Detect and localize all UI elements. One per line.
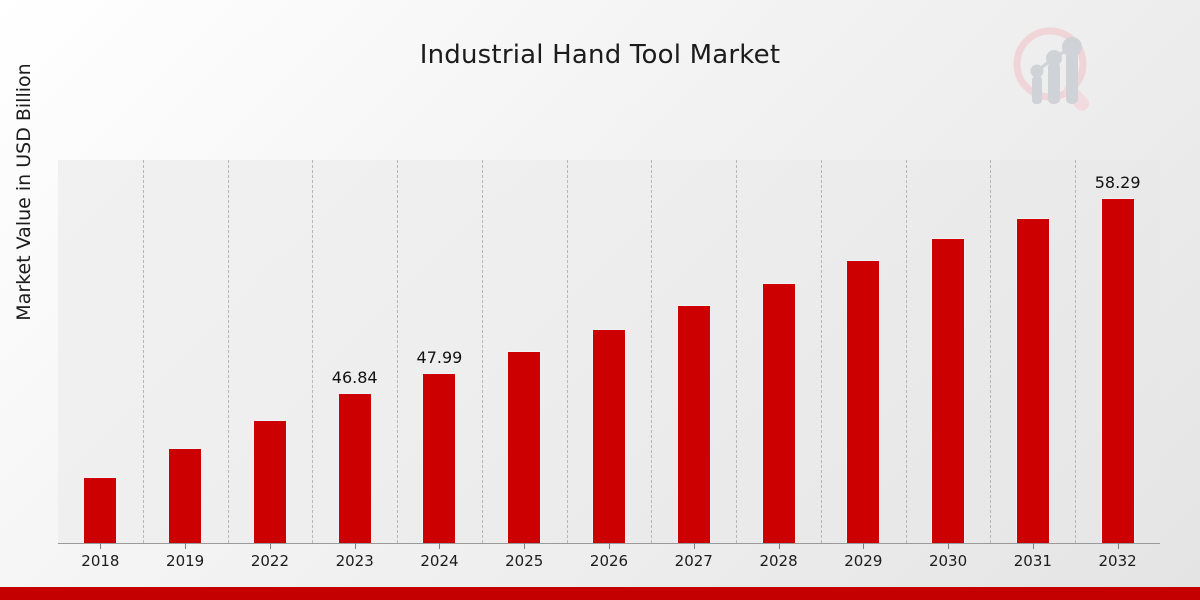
x-tick-2024 bbox=[439, 543, 440, 549]
x-tick-label-2030: 2030 bbox=[903, 552, 993, 570]
x-tick-2023 bbox=[355, 543, 356, 549]
bar-value-label-2023: 46.84 bbox=[310, 368, 400, 387]
x-tick-label-2019: 2019 bbox=[140, 552, 230, 570]
x-tick-label-2031: 2031 bbox=[988, 552, 1078, 570]
bar-2023[interactable] bbox=[338, 393, 372, 543]
x-tick-2030 bbox=[948, 543, 949, 549]
x-tick-2032 bbox=[1118, 543, 1119, 549]
x-tick-2029 bbox=[863, 543, 864, 549]
x-tick-label-2026: 2026 bbox=[564, 552, 654, 570]
bar-2028[interactable] bbox=[762, 283, 796, 543]
gridline bbox=[906, 160, 907, 543]
footer-accent-stripe bbox=[0, 587, 1200, 600]
gridline bbox=[651, 160, 652, 543]
bar-2030[interactable] bbox=[931, 238, 965, 543]
x-tick-2025 bbox=[524, 543, 525, 549]
bar-2018[interactable] bbox=[83, 477, 117, 543]
gridline bbox=[736, 160, 737, 543]
page-title: Industrial Hand Tool Market bbox=[0, 40, 1200, 70]
x-tick-label-2027: 2027 bbox=[649, 552, 739, 570]
x-tick-2027 bbox=[694, 543, 695, 549]
x-tick-label-2022: 2022 bbox=[225, 552, 315, 570]
x-tick-label-2028: 2028 bbox=[734, 552, 824, 570]
x-tick-2019 bbox=[185, 543, 186, 549]
bar-2026[interactable] bbox=[592, 329, 626, 543]
x-tick-2028 bbox=[779, 543, 780, 549]
bar-2029[interactable] bbox=[846, 260, 880, 543]
gridline bbox=[1075, 160, 1076, 543]
magnifier-bar-chart-logo bbox=[1006, 22, 1102, 118]
plot-area: 46.8447.9958.29 bbox=[58, 160, 1160, 543]
gridline bbox=[143, 160, 144, 543]
x-tick-label-2025: 2025 bbox=[479, 552, 569, 570]
bar-2031[interactable] bbox=[1016, 218, 1050, 543]
bar-2025[interactable] bbox=[507, 351, 541, 543]
bar-value-label-2032: 58.29 bbox=[1073, 173, 1163, 192]
x-tick-2026 bbox=[609, 543, 610, 549]
gridline bbox=[228, 160, 229, 543]
bar-2032[interactable] bbox=[1101, 198, 1135, 543]
x-tick-label-2018: 2018 bbox=[55, 552, 145, 570]
gridline bbox=[567, 160, 568, 543]
bar-2027[interactable] bbox=[677, 305, 711, 543]
bar-2024[interactable] bbox=[422, 373, 456, 543]
y-axis-label: Market Value in USD Billion bbox=[9, 0, 39, 402]
x-tick-2022 bbox=[270, 543, 271, 549]
bar-2022[interactable] bbox=[253, 420, 287, 543]
x-tick-2018 bbox=[100, 543, 101, 549]
chart-figure: Industrial Hand Tool Market Market Value… bbox=[0, 0, 1200, 600]
bar-2019[interactable] bbox=[168, 448, 202, 543]
gridline bbox=[312, 160, 313, 543]
x-tick-label-2029: 2029 bbox=[818, 552, 908, 570]
x-tick-label-2023: 2023 bbox=[310, 552, 400, 570]
gridline bbox=[990, 160, 991, 543]
bar-value-label-2024: 47.99 bbox=[394, 348, 484, 367]
x-tick-2031 bbox=[1033, 543, 1034, 549]
x-tick-label-2024: 2024 bbox=[394, 552, 484, 570]
gridline bbox=[821, 160, 822, 543]
x-tick-label-2032: 2032 bbox=[1073, 552, 1163, 570]
